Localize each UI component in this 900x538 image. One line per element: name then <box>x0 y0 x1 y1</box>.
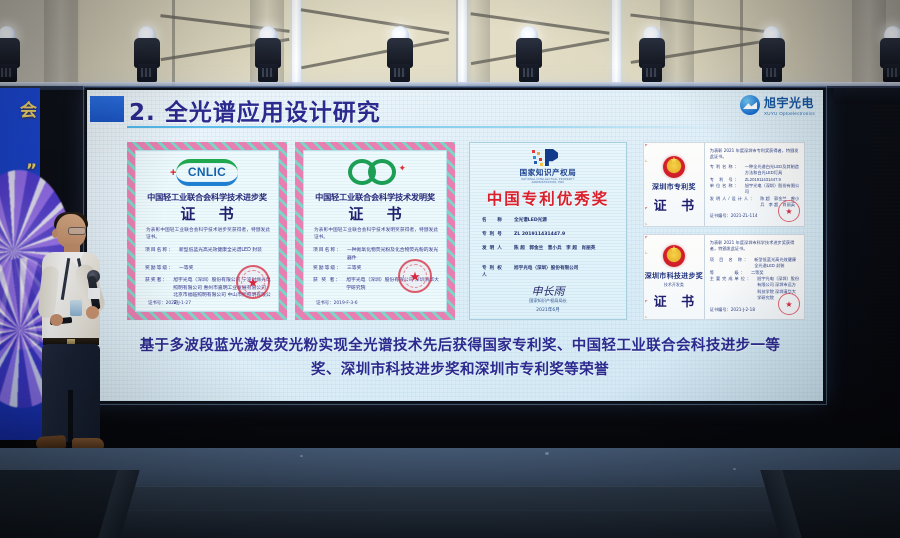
official-seal: ★ <box>778 200 800 222</box>
wall-light-strip <box>458 0 467 95</box>
stage-light <box>385 26 415 84</box>
cert-big-label: 证 书 <box>136 203 278 224</box>
emb-cert-title: 深圳市专利奖 <box>652 182 696 192</box>
official-seal: ★ <box>398 259 432 293</box>
emb-cert-label: 证 书 <box>649 291 700 310</box>
stage-light <box>132 26 162 84</box>
certificate-cnlic-invention[interactable]: ✦ 中国轻工业联合会科学技术发明奖 证 书 为表彰中国轻工业联合会科学技术发明奖… <box>295 142 455 320</box>
official-seal: ★ <box>236 265 270 299</box>
wall-light-strip <box>612 0 621 95</box>
national-emblem-icon <box>663 156 685 178</box>
emb-field-patent-name: 专利名称： 一种全光谱白光LED及其制造方法和白光LED灯具 <box>710 164 800 177</box>
stage-light <box>757 26 787 84</box>
wall-seam <box>172 0 175 95</box>
national-emblem-icon <box>663 245 685 267</box>
company-logo-icon <box>740 95 760 115</box>
presentation-slide[interactable]: 2. 全光谱应用设计研究 旭宇光电 XUYU Optoelectronics <box>87 90 823 401</box>
stage-light <box>514 26 544 84</box>
patent-field-inventors: 发明人 陈 超 郭金兰 曾小兵 李 超 肖丽英 <box>482 245 618 252</box>
cert-body-text: 为表彰中国轻工业联合会科学技术进步奖获得者，特颁发此证书。 <box>146 227 270 241</box>
cert-number: 证书号：2022-J-1-27 <box>148 300 191 306</box>
certificate-shenzhen-patent-award[interactable]: 深圳市专利奖 证 书 为表彰 2021 年度深圳市专利奖获得者，特颁发此证书。 … <box>643 142 805 227</box>
stage-light <box>637 26 667 84</box>
cnlic-wordmark: CNLIC <box>164 165 250 179</box>
cert-body-text: 为表彰中国轻工业联合会科学技术发明奖获得者，特颁发此证书。 <box>314 227 438 241</box>
stage-step-upper <box>100 486 800 512</box>
slide-caption: 基于多波段蓝光激发荧光粉实现全光谱技术先后获得国家专利奖、中国轻工业联合会科技进… <box>127 334 793 382</box>
emb-intro: 为表彰 2021 年度深圳市科学技术进步奖获得者，特颁发此证书。 <box>710 240 800 253</box>
wall-light-strip <box>292 0 301 95</box>
patent-award-title: 中国专利优秀奖 <box>470 187 626 209</box>
cert-number: 证书号：2019-F-3-6 <box>316 300 358 306</box>
patent-field-holder: 专利权人 旭宇光电（深圳）股份有限公司 <box>482 265 618 279</box>
patent-award-date: 2021年6月 <box>470 307 626 313</box>
presenter-badge <box>70 300 82 316</box>
emb-cert-subtitle: 技术开发类 <box>664 282 684 288</box>
left-banner-line-1: 会 <box>5 98 37 124</box>
signature: 申长雨 <box>470 283 626 299</box>
brand-name-cn: 旭宇光电 <box>764 94 815 111</box>
conference-stage-scene: 会 ” 明 2. 全光谱应用设计研究 旭宇光电 XUYU Optoelectro… <box>0 0 900 538</box>
slide-title: 2. 全光谱应用设计研究 <box>129 93 381 127</box>
right-red-banner <box>872 88 900 373</box>
presenter-glasses <box>68 227 86 235</box>
projection-screen[interactable]: 2. 全光谱应用设计研究 旭宇光电 XUYU Optoelectronics <box>85 88 825 403</box>
certificate-china-patent-award[interactable]: 国家知识产权局 NATIONAL INTELLECTUAL PROPERTY A… <box>469 142 627 320</box>
emb-cert-title: 深圳市科技进步奖 <box>645 271 703 281</box>
stage-light <box>0 26 22 84</box>
emb-field-project: 项 目 名 称： 新型低蓝光高光效健康全光谱LED 封装 <box>710 257 800 270</box>
official-seal: ★ <box>778 293 800 315</box>
cnipa-name-en: NATIONAL INTELLECTUAL PROPERTY ADMINISTR… <box>512 178 584 184</box>
certificate-cnlic-progress[interactable]: CNLIC + 中国轻工业联合会科学技术进步奖 证 书 为表彰中国轻工业联合会科… <box>127 142 287 320</box>
cnlic-logo-icon: CNLIC + <box>164 159 250 185</box>
stage-step-lower <box>60 510 840 538</box>
emb-cert-label: 证 书 <box>649 195 700 214</box>
cert-big-label: 证 书 <box>304 203 446 224</box>
slide-title-row: 2. 全光谱应用设计研究 旭宇光电 XUYU Optoelectronics <box>87 90 823 130</box>
cnlic-invention-logo-icon: ✦ <box>340 157 410 187</box>
cert-field-project: 项目名称： 新型低蓝光高光效健康全光谱LED 封装 <box>145 247 272 255</box>
certificate-shenzhen-scitech-progress[interactable]: 深圳市科技进步奖 技术开发类 证 书 为表彰 2021 年度深圳市科学技术进步奖… <box>643 234 805 320</box>
right-top-bar <box>834 88 900 104</box>
cnipa-name-cn: 国家知识产权局 <box>512 167 584 178</box>
patent-field-name: 名 称 全光谱LED光源 <box>482 217 618 224</box>
stage-light <box>253 26 283 84</box>
stage-light <box>878 26 900 84</box>
title-accent-block <box>90 96 124 122</box>
certificates-area: CNLIC + 中国轻工业联合会科学技术进步奖 证 书 为表彰中国轻工业联合会科… <box>87 134 823 324</box>
wall-column <box>44 0 78 95</box>
cert-heading: 中国轻工业联合会科学技术发明奖 <box>304 191 446 203</box>
right-dark-panel <box>824 88 872 388</box>
wall-seam <box>740 0 743 95</box>
presenter <box>24 214 114 462</box>
title-underline <box>127 126 727 128</box>
emb-field-unit: 单位名称： 旭宇光电（深圳）股份有限公司 <box>710 183 800 196</box>
microphone-flag <box>88 288 100 299</box>
brand-logo: 旭宇光电 XUYU Optoelectronics <box>740 94 815 116</box>
dot-icon: ✦ <box>398 163 406 174</box>
patent-field-number: 专利号 ZL 201911431447.9 <box>482 231 618 238</box>
plus-icon: + <box>170 167 176 179</box>
emb-intro: 为表彰 2021 年度深圳市专利奖获得者，特颁发此证书。 <box>710 148 800 161</box>
cnipa-mark-icon <box>531 149 565 166</box>
cnipa-logo: 国家知识产权局 NATIONAL INTELLECTUAL PROPERTY A… <box>512 149 584 179</box>
brand-name-en: XUYU Optoelectronics <box>764 111 815 116</box>
cert-heading: 中国轻工业联合会科学技术进步奖 <box>136 191 278 203</box>
signature-title: 国家知识产权局局长 <box>470 298 626 304</box>
